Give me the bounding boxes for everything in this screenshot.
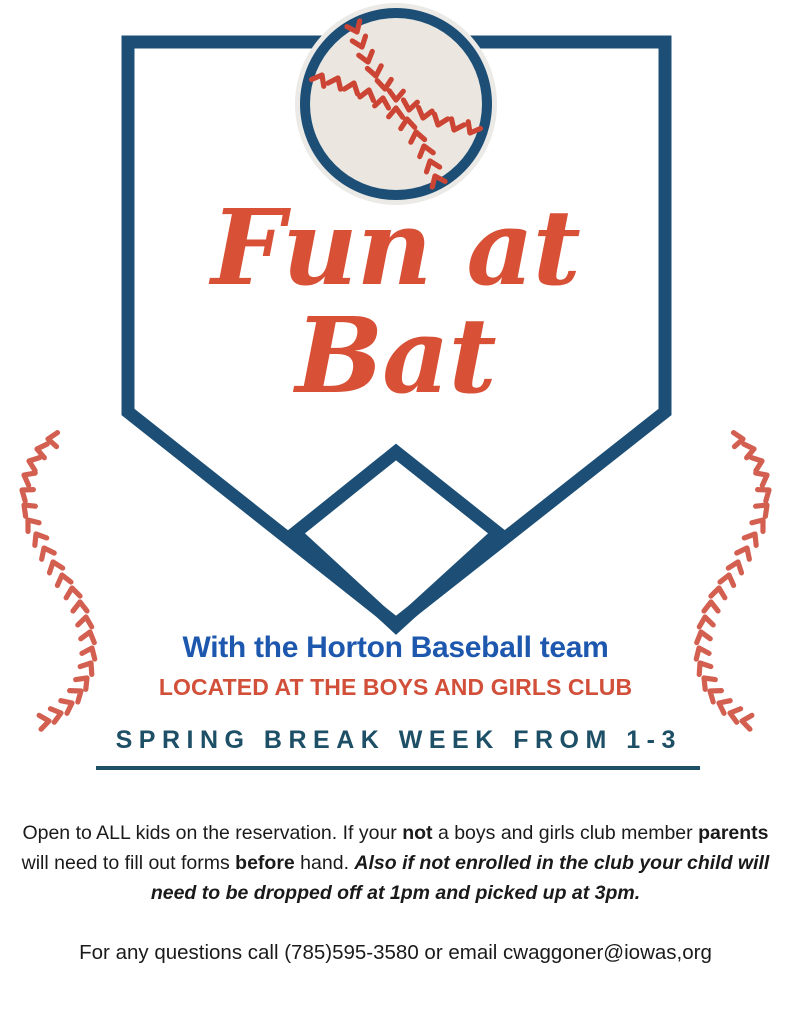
flyer-page: Fun at Bat With the Horton Baseball team… [0,0,791,1024]
contact-line: For any questions call (785)595-3580 or … [0,938,791,968]
inner-diamond-outline [295,452,498,626]
details-seg-2-bold: not [402,822,432,844]
details-paragraph: Open to ALL kids on the reservation. If … [0,818,791,908]
details-seg-4-bold: parents [698,822,768,844]
location-line: LOCATED AT THE BOYS AND GIRLS CLUB [0,672,791,702]
baseball-icon [295,3,497,205]
details-seg-5: will need to fill out forms [22,852,236,874]
week-line: SPRING BREAK WEEK FROM 1-3 [0,724,791,756]
flyer-title: Fun at Bat [0,196,791,412]
details-seg-1: Open to ALL kids on the reservation. If … [22,822,402,844]
divider-rule [96,766,700,770]
details-seg-3: a boys and girls club member [433,822,699,844]
team-line: With the Horton Baseball team [0,630,791,666]
details-seg-6-bold: before [235,852,295,874]
details-seg-7: hand. [295,852,355,874]
title-line-two: Bat [0,300,791,412]
body-copy-block: Open to ALL kids on the reservation. If … [0,818,791,968]
title-line-one: Fun at [0,196,791,300]
subheading-block: With the Horton Baseball team LOCATED AT… [0,630,791,756]
